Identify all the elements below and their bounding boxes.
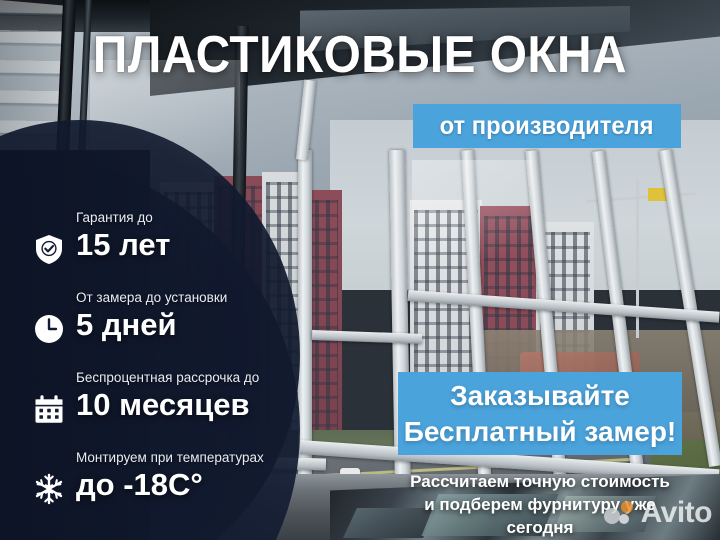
snowflake-icon [32,472,66,506]
shield-check-icon [32,232,66,266]
feature-item-temperature: Монтируем при температурах до -18С° [30,448,330,528]
manufacturer-badge-label: от производителя [440,112,654,141]
avito-logo-icon [604,500,638,526]
feature-caption: Монтируем при температурах [76,450,264,465]
avito-watermark: Avito [604,496,712,530]
feature-value: до -18С° [76,466,203,504]
page-title: ПЛАСТИКОВЫЕ ОКНА [29,26,691,84]
feature-value: 10 месяцев [76,386,250,424]
advertisement-banner: ПЛАСТИКОВЫЕ ОКНА от производителя Гарант… [0,0,720,540]
feature-item-installation-time: От замера до установки 5 дней [30,288,330,368]
feature-caption: От замера до установки [76,290,227,305]
cta-block[interactable]: Заказывайте Бесплатный замер! [398,372,682,455]
cta-subtext-line-1: Рассчитаем точную стоимость [390,470,690,493]
clock-icon [32,312,66,346]
feature-item-installment: Беспроцентная рассрочка до 10 месяцев [30,368,330,448]
cta-line-2: Бесплатный замер! [404,414,677,450]
feature-caption: Гарантия до [76,210,153,225]
avito-wordmark: Avito [641,496,712,530]
calendar-icon [32,392,66,426]
cta-line-1: Заказывайте [450,378,630,414]
manufacturer-badge: от производителя [413,104,681,148]
features-list: Гарантия до 15 лет От замера до установк… [30,208,330,528]
content-layer: ПЛАСТИКОВЫЕ ОКНА от производителя Гарант… [0,0,720,540]
feature-item-warranty: Гарантия до 15 лет [30,208,330,288]
feature-value: 15 лет [76,226,170,264]
feature-caption: Беспроцентная рассрочка до [76,370,259,385]
feature-value: 5 дней [76,306,177,344]
